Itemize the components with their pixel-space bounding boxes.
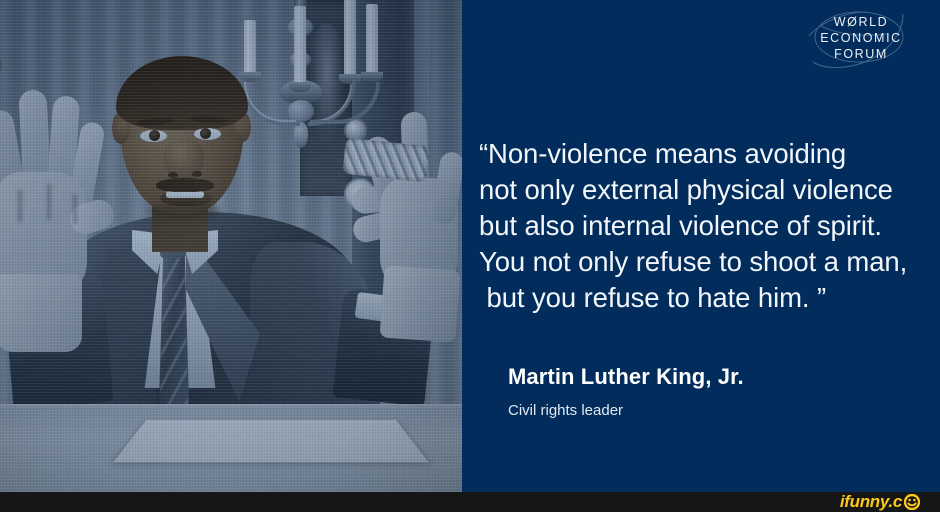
world-economic-forum-wordmark: WØRLD ECONOMIC FORUM bbox=[807, 14, 915, 62]
left-nostril bbox=[168, 172, 178, 178]
quote-line-4: You not only refuse to shoot a man, bbox=[479, 244, 929, 280]
raised-left-hand bbox=[0, 52, 123, 322]
logo-line-3: FORUM bbox=[807, 46, 915, 62]
raised-right-hand bbox=[344, 118, 462, 318]
ifunny-wordmark: ifunny.c bbox=[840, 493, 902, 511]
bottom-bar: ifunny.c bbox=[0, 492, 940, 512]
sheet-of-paper bbox=[113, 420, 428, 462]
world-economic-forum-logo[interactable]: WØRLD ECONOMIC FORUM bbox=[807, 10, 915, 68]
quote-author: Martin Luther King, Jr. bbox=[508, 364, 744, 390]
quote-text: “Non-violence means avoiding not only ex… bbox=[479, 136, 929, 316]
logo-line-2: ECONOMIC bbox=[807, 30, 915, 46]
right-pupil bbox=[200, 128, 211, 139]
left-pupil bbox=[149, 130, 160, 141]
quote-author-role: Civil rights leader bbox=[508, 402, 623, 419]
quote-line-5: but you refuse to hate him. ” bbox=[479, 280, 929, 316]
chin-shadow bbox=[150, 202, 220, 220]
quote-line-2: not only external physical violence bbox=[479, 172, 929, 208]
quote-line-1: “Non-violence means avoiding bbox=[479, 136, 929, 172]
smiley-face-icon bbox=[904, 494, 920, 510]
quote-card: WØRLD ECONOMIC FORUM “Non-violence means… bbox=[0, 0, 940, 512]
mustache bbox=[156, 178, 214, 192]
left-hand-ring bbox=[0, 52, 2, 78]
right-wrist bbox=[380, 265, 461, 342]
teeth bbox=[166, 191, 204, 198]
ifunny-watermark[interactable]: ifunny.c bbox=[840, 492, 920, 512]
wristwatch-band bbox=[342, 138, 429, 183]
quote-panel: WØRLD ECONOMIC FORUM “Non-violence means… bbox=[462, 0, 940, 492]
logo-line-1: WØRLD bbox=[807, 14, 915, 30]
quote-line-3: but also internal violence of spirit. bbox=[479, 208, 929, 244]
right-nostril bbox=[192, 171, 202, 177]
necktie-stripes bbox=[160, 258, 188, 404]
left-wrist bbox=[0, 274, 82, 352]
mlk-photograph bbox=[0, 0, 462, 492]
